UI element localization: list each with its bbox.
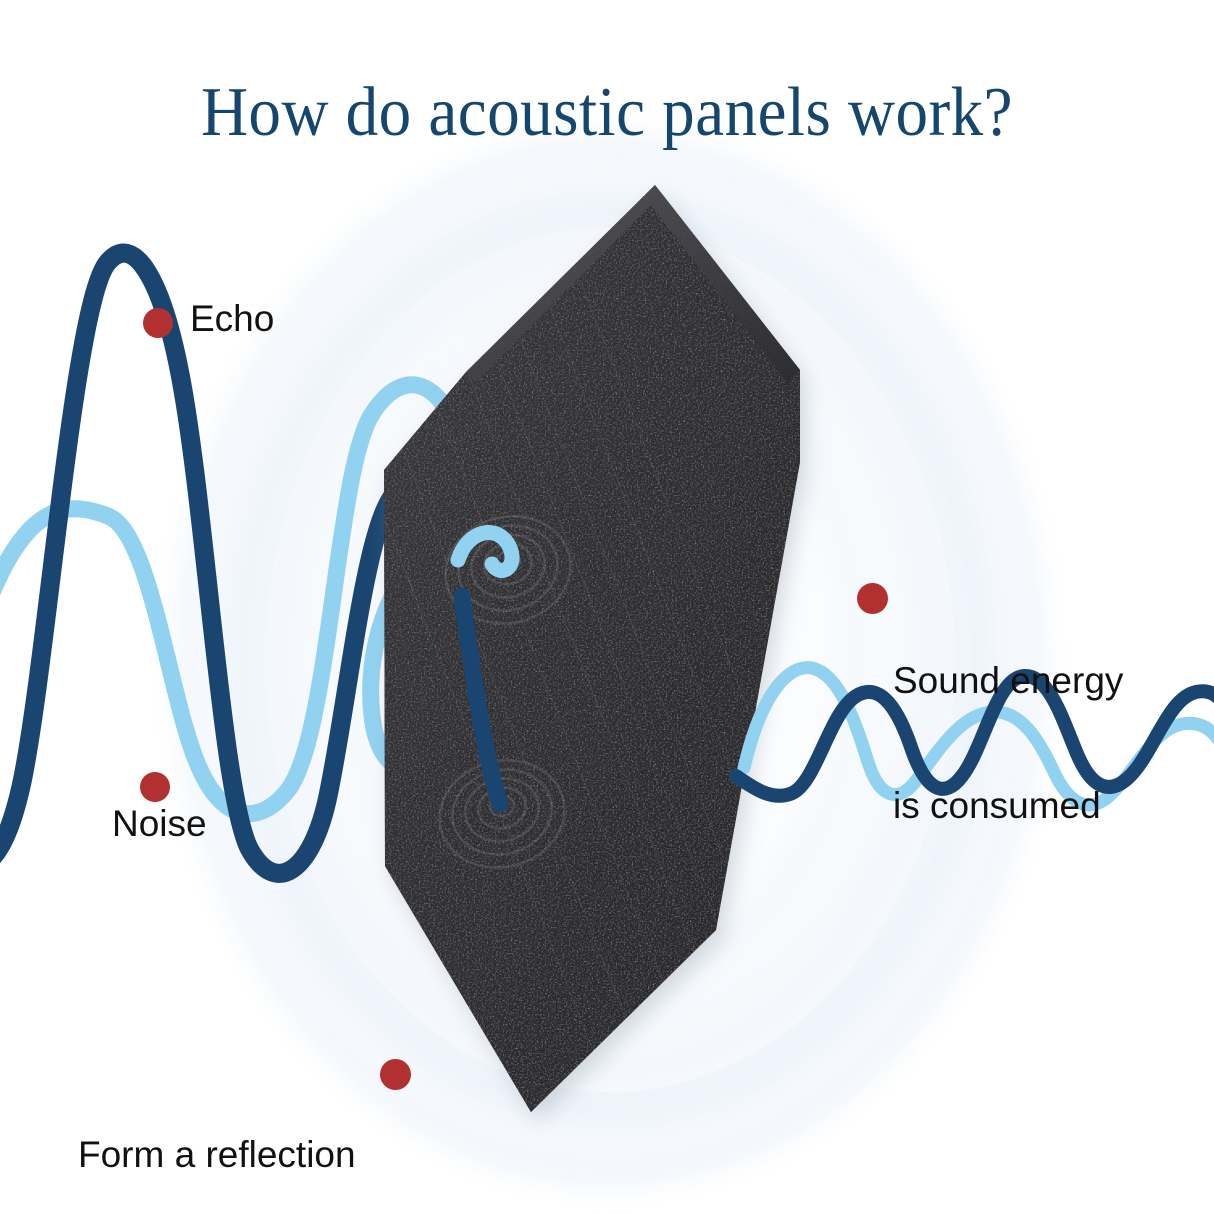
sound-energy-label-line1: Sound energy [893,660,1123,702]
echo-marker-dot [143,308,173,338]
pore-reflection-label-line1: Form a reflection [78,1134,356,1176]
echo-label: Echo [190,298,274,339]
infographic-canvas: How do acoustic panels work? Echo Noise … [0,0,1214,1214]
sound-energy-marker-dot [857,583,888,614]
page-title: How do acoustic panels work? [42,78,1171,148]
pore-reflection-label: Form a reflection in pore structure [78,1050,356,1214]
sound-energy-label-line2: is consumed [893,785,1123,827]
pore-reflection-marker-dot [380,1059,411,1090]
noise-marker-dot [140,772,170,802]
sound-energy-label: Sound energy is consumed [893,576,1123,910]
noise-label: Noise [112,803,207,844]
